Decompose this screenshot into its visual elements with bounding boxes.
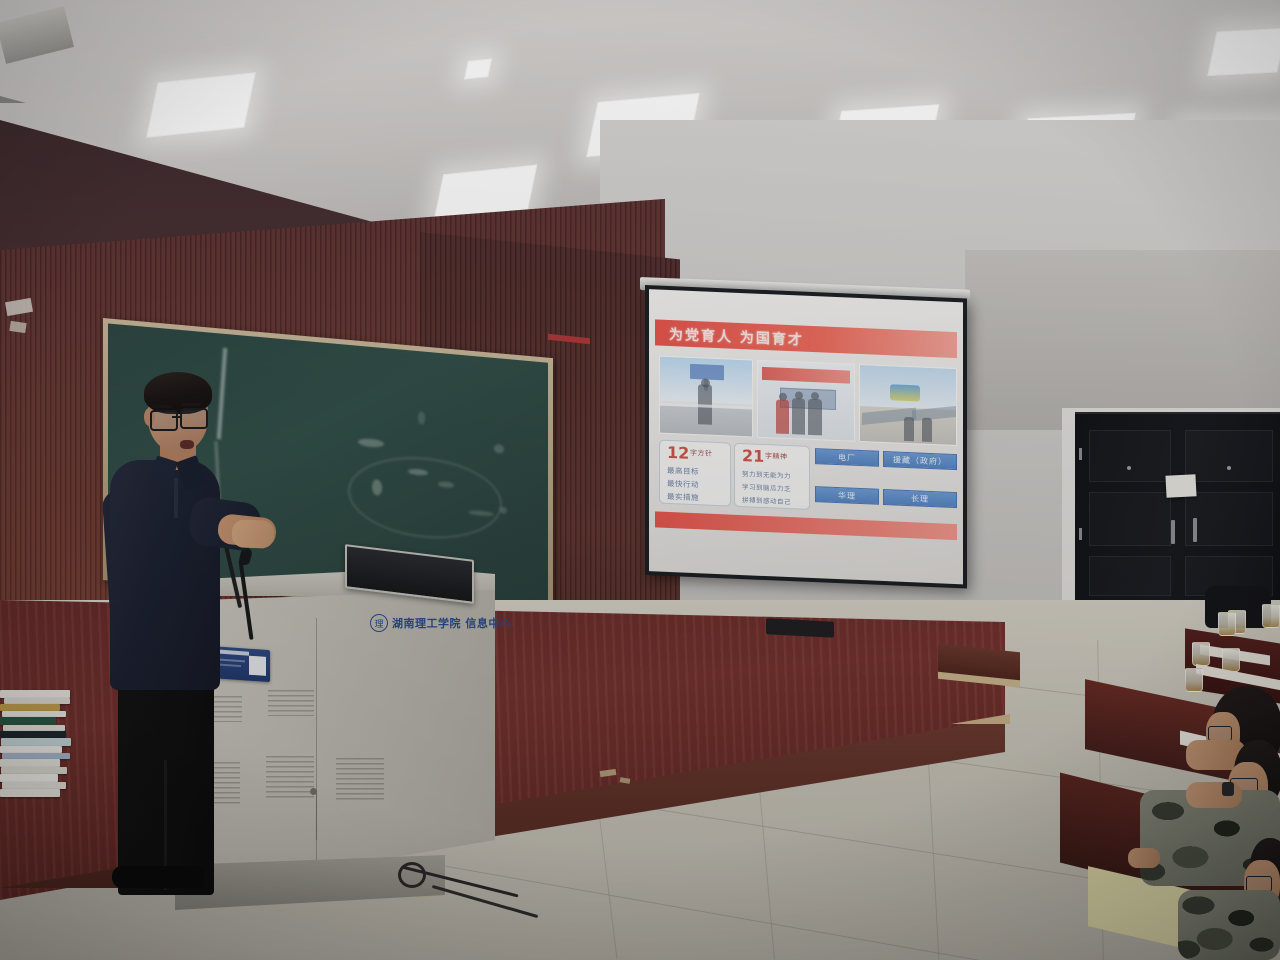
slide-title-bar: 为党育人 为国育才	[655, 319, 957, 358]
door-handle[interactable]	[1171, 520, 1175, 544]
speaker-mouth	[180, 440, 194, 449]
door-peephole	[1127, 466, 1131, 470]
slide-photo-3	[859, 364, 957, 446]
speaker-shoe	[112, 866, 204, 888]
audience-member-1-glasses	[1208, 726, 1232, 741]
podium-lock[interactable]	[310, 788, 317, 795]
podium-org-label: 湖南理工学院 信息中心	[392, 615, 511, 631]
slide-key-block-2: 21 字精神 努力到无能为力 学习到脑瓜力乏 拼搏到感动自己	[734, 443, 810, 510]
speaker-hand	[232, 519, 275, 548]
door-notice-paper	[1165, 474, 1196, 498]
slide-title: 为党育人 为国育才	[669, 324, 804, 350]
slide-photo-1	[659, 356, 753, 438]
slide-partner-box: 援藏（政府）	[883, 451, 957, 470]
tea-glass	[1222, 648, 1240, 672]
wristwatch	[1222, 782, 1234, 796]
eyebrow	[152, 405, 172, 408]
door-hinge	[1079, 448, 1082, 460]
lecture-hall-photo: 为党育人 为国育才	[0, 0, 1280, 960]
tea-glass	[1192, 642, 1210, 666]
key-block-line: 拼搏到感动自己	[742, 494, 791, 506]
floor-cable-coil	[398, 862, 426, 888]
led-panel-light	[464, 59, 492, 80]
key-block-number: 12	[667, 443, 689, 463]
key-block-label: 字精神	[765, 451, 788, 462]
slide-partner-box: 华理	[815, 486, 879, 505]
slide-photo-2	[757, 360, 855, 442]
projection-screen-border: 为党育人 为国育才	[645, 285, 967, 588]
door-hinge	[1079, 528, 1082, 540]
audience-hand	[1128, 848, 1160, 868]
wall-paint-chip	[9, 321, 26, 333]
door-handle[interactable]	[1193, 518, 1197, 542]
led-panel-light	[146, 72, 255, 138]
university-logo-icon: 理	[370, 614, 388, 632]
key-block-line: 最实措施	[667, 491, 699, 503]
key-block-line: 最快行动	[667, 478, 699, 490]
door-peephole	[1227, 466, 1231, 470]
eyeglasses-right-lens	[180, 408, 208, 429]
shirt-placket	[174, 478, 178, 518]
key-block-line: 最高目标	[667, 465, 699, 477]
slide-partner-box: 长理	[883, 489, 957, 508]
tea-glass	[1218, 612, 1236, 636]
speaker-polo-shirt	[110, 460, 220, 690]
key-block-label: 字方针	[690, 448, 713, 459]
eyeglasses-bridge	[172, 416, 181, 418]
led-panel-light	[1207, 28, 1280, 76]
key-block-line: 努力到无能为力	[742, 468, 791, 480]
slide-key-block-1: 12 字方针 最高目标 最快行动 最实措施	[659, 440, 731, 507]
key-block-number: 21	[742, 446, 764, 466]
slide-partner-box: 电厂	[815, 448, 879, 467]
eyebrow	[181, 403, 201, 406]
key-block-line: 学习到脑瓜力乏	[742, 481, 791, 493]
projection-screen: 为党育人 为国育才	[649, 289, 963, 584]
slide-footer-bar	[655, 511, 957, 540]
tea-glass	[1185, 668, 1203, 692]
eyeglasses-left-lens	[150, 410, 178, 431]
stack-of-books	[0, 690, 88, 805]
tea-glass	[1262, 604, 1280, 628]
right-wall-shadow	[965, 250, 1280, 430]
audience-member-3-uniform	[1178, 890, 1280, 960]
